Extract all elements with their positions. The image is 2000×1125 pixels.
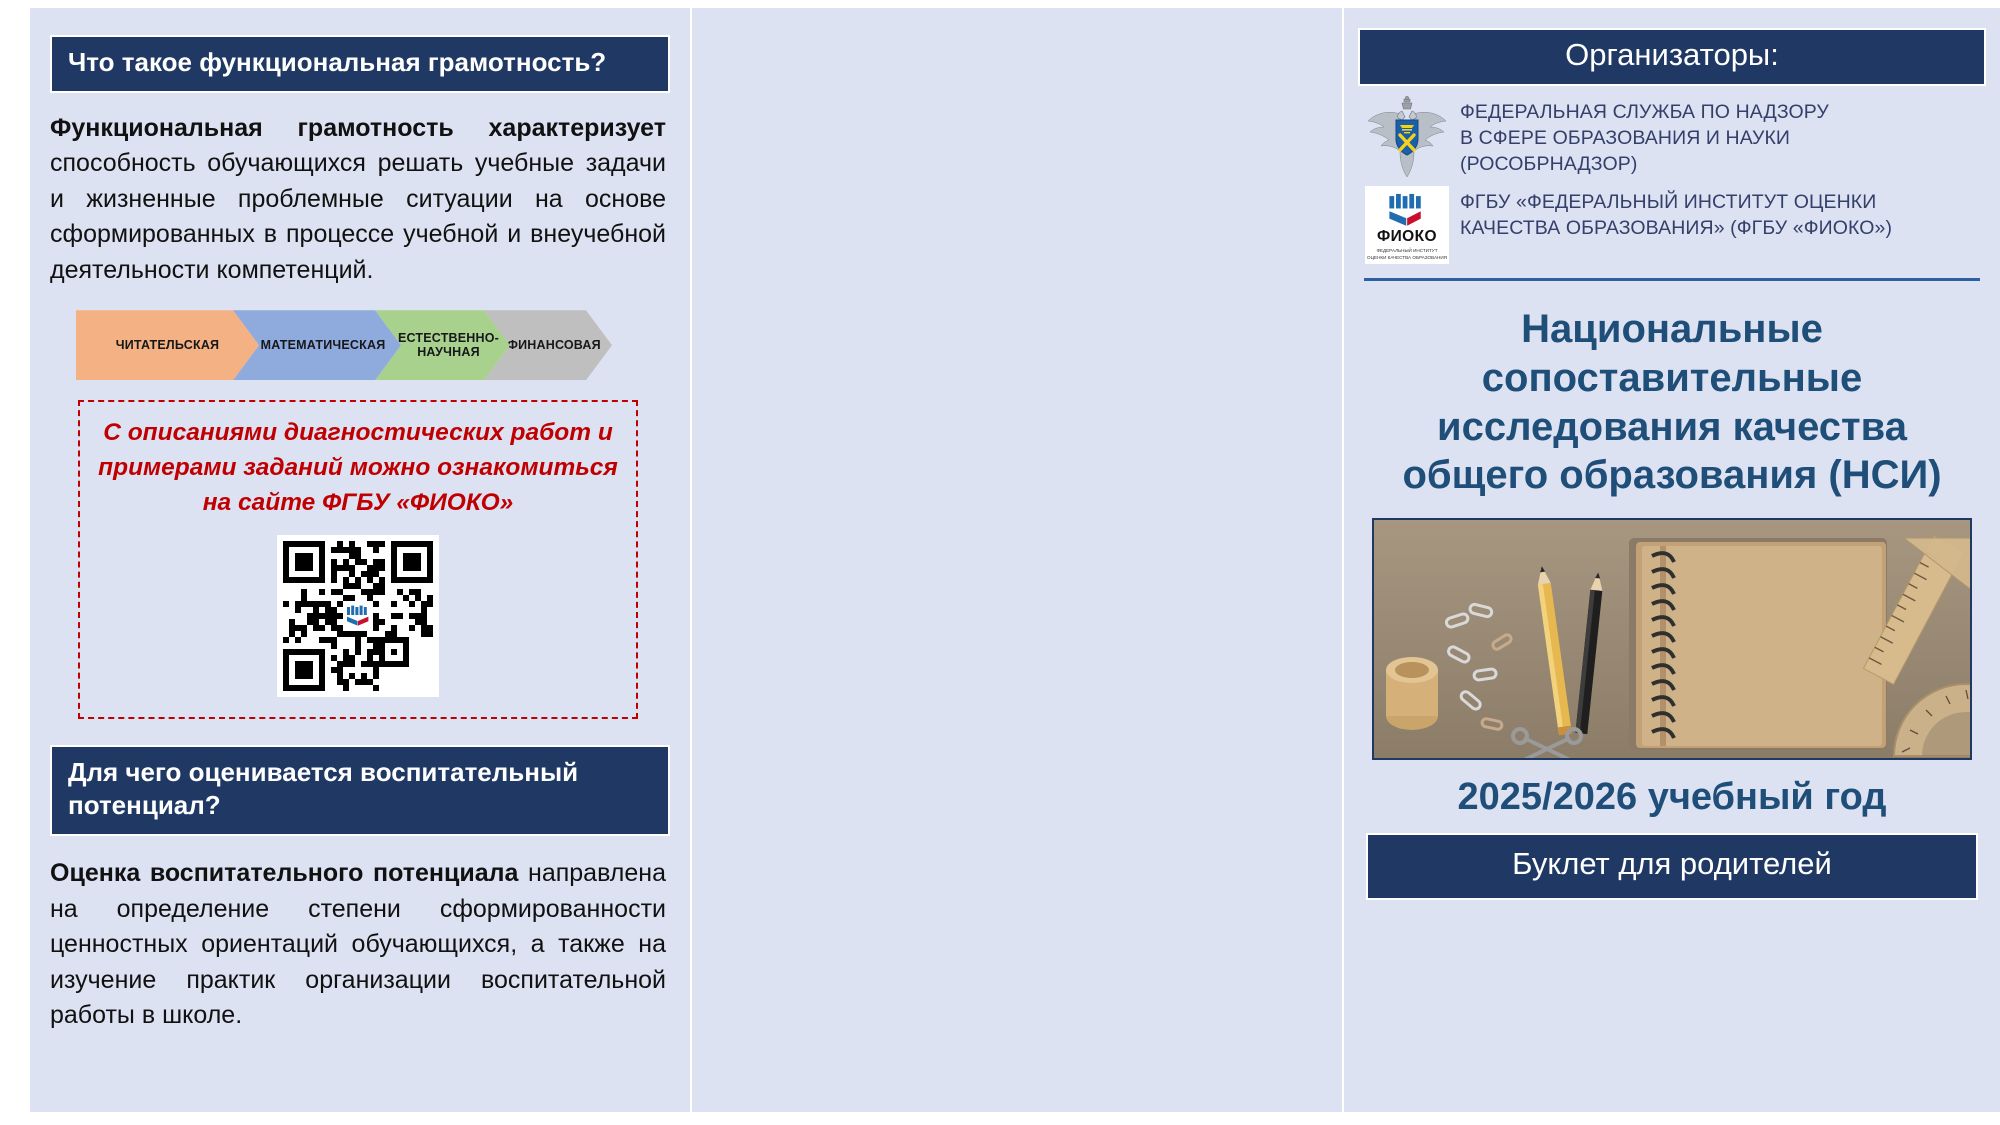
paragraph-functional-literacy-lead: Функциональная грамотность характеризует [50, 114, 666, 142]
brochure-panel-middle [692, 8, 1342, 1112]
paragraph-upbringing-potential: Оценка воспитательного потенциала направ… [50, 856, 670, 1034]
qr-code-icon[interactable] [277, 535, 439, 697]
fioko-logo-box: ФИОКО ФЕДЕРАЛЬНЫЙ ИНСТИТУТОЦЕНКИ КАЧЕСТВ… [1365, 186, 1449, 264]
literacy-domains-chevron-diagram: ЧИТАТЕЛЬСКАЯМАТЕМАТИЧЕСКАЯЕСТЕСТВЕННО-НА… [76, 310, 664, 380]
chevron-segment-label: ФИНАНСОВАЯ [495, 338, 601, 352]
page-title: Национальные сопоставительные исследован… [1358, 305, 1986, 500]
fioko-bars-icon [1387, 193, 1427, 227]
paragraph-upbringing-potential-lead: Оценка воспитательного потенциала [50, 859, 518, 887]
heading-functional-literacy: Что такое функциональная грамотность? [50, 35, 670, 93]
chevron-segment-label: МАТЕМАТИЧЕСКАЯ [249, 338, 386, 352]
fioko-logo-subtext: ФЕДЕРАЛЬНЫЙ ИНСТИТУТОЦЕНКИ КАЧЕСТВА ОБРА… [1367, 248, 1447, 261]
brochure-page: Что такое функциональная грамотность? Фу… [0, 0, 2000, 1125]
right-panel-content: Организаторы: [1358, 28, 1986, 900]
fioko-mark-icon [346, 605, 370, 627]
qr-callout-box: С описаниями диагностических работ и при… [78, 400, 638, 718]
qr-callout-text: С описаниями диагностических работ и при… [98, 416, 618, 520]
hero-photo [1372, 518, 1972, 760]
organizer-label-fioko: ФГБУ «ФЕДЕРАЛЬНЫЙ ИНСТИТУТ ОЦЕНКИКАЧЕСТВ… [1450, 186, 1892, 242]
academic-year-label: 2025/2026 учебный год [1358, 776, 1986, 819]
brochure-panel-right: Организаторы: [1344, 8, 2000, 1112]
eagle-emblem-svg [1364, 96, 1450, 180]
hero-photo-illustration [1374, 520, 1972, 760]
chevron-segment-label: ЧИТАТЕЛЬСКАЯ [116, 338, 220, 352]
organizer-label-rosobrnadzor: ФЕДЕРАЛЬНАЯ СЛУЖБА ПО НАДЗОРУВ СФЕРЕ ОБР… [1450, 96, 1829, 178]
fioko-logo-icon: ФИОКО ФЕДЕРАЛЬНЫЙ ИНСТИТУТОЦЕНКИ КАЧЕСТВ… [1364, 186, 1450, 264]
left-panel-content: Что такое функциональная грамотность? Фу… [50, 35, 670, 1034]
divider-rule [1364, 278, 1980, 281]
chevron-segment-label: ЕСТЕСТВЕННО-НАУЧНАЯ [386, 331, 499, 360]
qr-center-fioko-icon [344, 603, 372, 629]
paragraph-functional-literacy-rest: способность обучающихся решать учебные з… [50, 149, 666, 284]
organizer-row-fioko: ФИОКО ФЕДЕРАЛЬНЫЙ ИНСТИТУТОЦЕНКИ КАЧЕСТВ… [1358, 186, 1986, 264]
chevron-segment: ЧИТАТЕЛЬСКАЯ [76, 310, 259, 380]
rosobrnadzor-eagle-emblem-icon [1364, 96, 1450, 180]
paragraph-functional-literacy: Функциональная грамотность характеризует… [50, 111, 670, 289]
brochure-panel-left: Что такое функциональная грамотность? Фу… [30, 8, 690, 1112]
heading-organizers: Организаторы: [1358, 28, 1986, 86]
heading-upbringing-potential: Для чего оценивается воспитательный поте… [50, 745, 670, 837]
booklet-label: Буклет для родителей [1366, 833, 1978, 899]
fioko-wordmark: ФИОКО [1377, 228, 1437, 246]
organizer-row-rosobrnadzor: ФЕДЕРАЛЬНАЯ СЛУЖБА ПО НАДЗОРУВ СФЕРЕ ОБР… [1358, 96, 1986, 180]
